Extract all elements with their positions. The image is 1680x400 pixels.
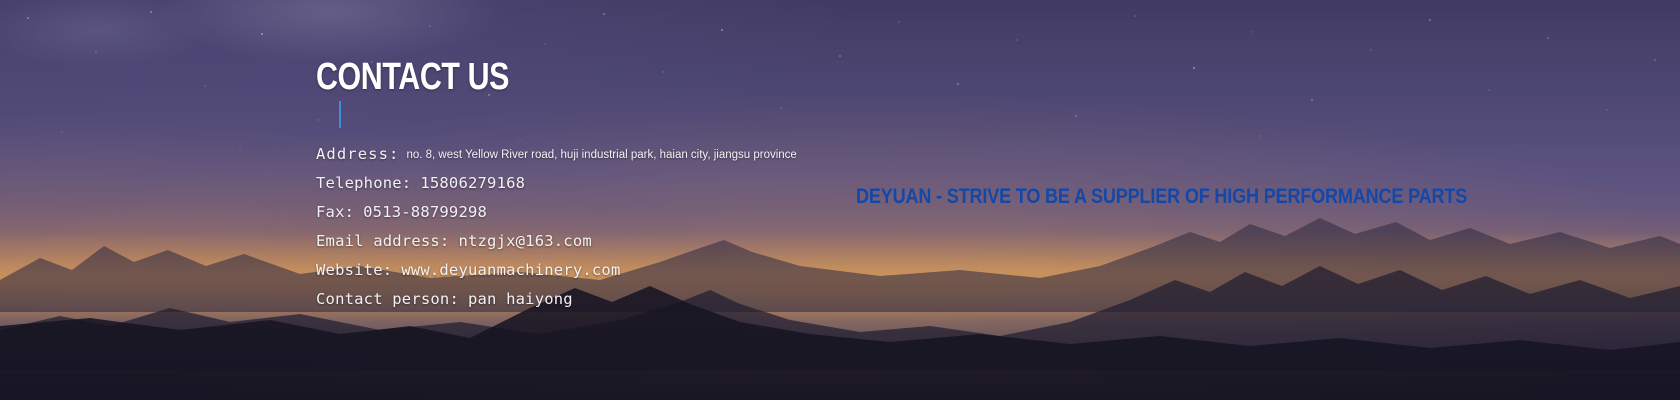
contact-value-contact-person: pan haiyong: [459, 290, 573, 308]
contact-label-address: Address:: [316, 145, 399, 163]
contact-value-email[interactable]: ntzgjx@163.com: [449, 232, 591, 250]
contact-details-list: Address:no. 8, west Yellow River road, h…: [316, 143, 876, 317]
contact-label-contact-person: Contact person:: [316, 290, 459, 308]
company-tagline: DEYUAN - STRIVE TO BE A SUPPLIER OF HIGH…: [856, 186, 1467, 207]
page-title: CONTACT US: [316, 58, 509, 96]
contact-row-website: Website:www.deyuanmachinery.com: [316, 259, 876, 288]
contact-value-website[interactable]: www.deyuanmachinery.com: [392, 261, 620, 279]
contact-value-address: no. 8, west Yellow River road, huji indu…: [399, 149, 796, 161]
contact-label-email: Email address:: [316, 232, 449, 250]
contact-label-fax: Fax:: [316, 203, 354, 221]
contact-label-telephone: Telephone:: [316, 174, 411, 192]
banner-content: CONTACT US Address:no. 8, west Yellow Ri…: [0, 0, 1680, 400]
contact-value-telephone[interactable]: 15806279168: [411, 174, 525, 192]
contact-row-fax: Fax:0513-88799298: [316, 201, 876, 230]
contact-row-telephone: Telephone:15806279168: [316, 172, 876, 201]
contact-banner: CONTACT US Address:no. 8, west Yellow Ri…: [0, 0, 1680, 400]
contact-label-website: Website:: [316, 261, 392, 279]
contact-value-fax: 0513-88799298: [354, 203, 487, 221]
contact-row-contact-person: Contact person:pan haiyong: [316, 288, 876, 317]
title-accent-bar: [339, 101, 341, 128]
contact-row-address: Address:no. 8, west Yellow River road, h…: [316, 143, 876, 172]
contact-row-email: Email address:ntzgjx@163.com: [316, 230, 876, 259]
